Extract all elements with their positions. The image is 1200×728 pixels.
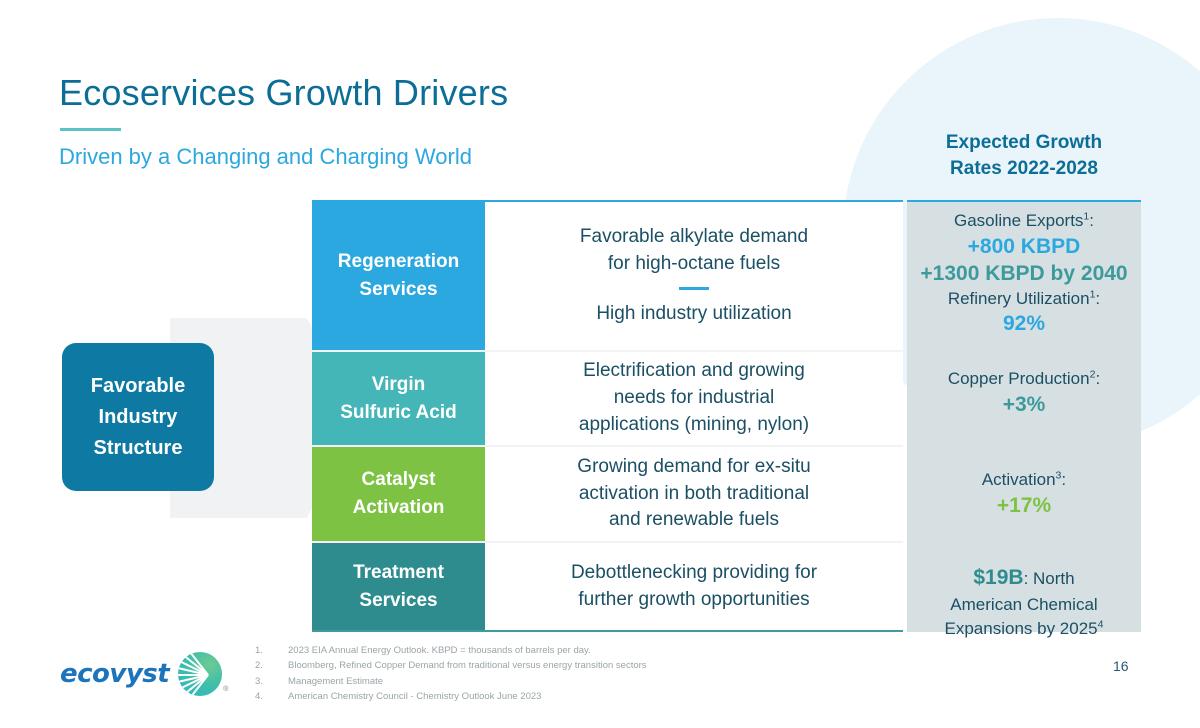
footnote-text: American Chemistry Council - Chemistry O…	[288, 689, 541, 704]
footnote-number: 3.	[255, 674, 288, 689]
stat-label-gasoline-exports: Gasoline Exports1:	[907, 210, 1141, 233]
callout-text: Favorable Industry Structure	[91, 371, 185, 464]
footnote-number: 1.	[255, 643, 288, 658]
callout-line-3: Structure	[91, 433, 185, 464]
page-title: Ecoservices Growth Drivers	[59, 72, 508, 114]
expected-growth-header: Expected Growth Rates 2022-2028	[907, 130, 1141, 181]
growth-drivers-matrix: Regeneration Services Favorable alkylate…	[312, 200, 903, 632]
list-item: 3. Management Estimate	[255, 674, 647, 689]
stat-refinery-utilization: Refinery Utilization1: 92%	[907, 288, 1141, 338]
callout-line-2: Industry	[91, 402, 185, 433]
stat-value-activation: +17%	[907, 492, 1141, 519]
stat-label-text: Gasoline Exports	[954, 211, 1083, 230]
page-subtitle: Driven by a Changing and Charging World	[59, 144, 472, 170]
slide-canvas: Ecoservices Growth Drivers Driven by a C…	[0, 0, 1200, 728]
table-row: Virgin Sulfuric Acid Electrification and…	[312, 350, 903, 445]
stat-value-gasoline-exports-2040: +1300 KBPD by 2040	[907, 260, 1141, 287]
stat-value-refinery-utilization: 92%	[907, 310, 1141, 337]
category-line-2: Services	[338, 276, 459, 304]
description-line-2: further growth opportunities	[578, 588, 809, 613]
title-underline-rule	[60, 128, 121, 131]
stat-copper-production: Copper Production2: +3%	[907, 368, 1141, 418]
category-line-1: Virgin	[340, 371, 456, 399]
expected-growth-header-line1: Expected Growth	[907, 130, 1141, 156]
list-item: 2. Bloomberg, Refined Copper Demand from…	[255, 658, 647, 673]
callout-line-1: Favorable	[91, 371, 185, 402]
stat-label-text: Activation	[982, 470, 1056, 489]
stat-label-colon: :	[1095, 369, 1100, 388]
stat-label-text: Refinery Utilization	[948, 289, 1090, 308]
stat-value-copper-production: +3%	[907, 391, 1141, 418]
description-line-1: Growing demand for ex-situ	[577, 455, 810, 480]
footnote-ref-4: 4	[1098, 618, 1104, 630]
expected-growth-header-line2: Rates 2022-2028	[907, 156, 1141, 182]
stat-value-gasoline-exports-2028: +800 KBPD	[907, 233, 1141, 260]
footnote-text: 2023 EIA Annual Energy Outlook. KBPD = t…	[288, 643, 591, 658]
stat-label-colon: :	[1061, 470, 1066, 489]
expansion-text-line-3: Expansions by 20254	[907, 617, 1141, 640]
expansion-text-line-1: : North	[1024, 569, 1075, 588]
registered-trademark-symbol: ®	[223, 686, 228, 693]
logo-wordmark: ecovyst	[60, 659, 169, 689]
table-row: Regeneration Services Favorable alkylate…	[312, 202, 903, 350]
stat-label-activation: Activation3:	[907, 469, 1141, 492]
matrix-description-regeneration-services: Favorable alkylate demand for high-octan…	[485, 202, 903, 350]
list-item: 1. 2023 EIA Annual Energy Outlook. KBPD …	[255, 643, 647, 658]
matrix-category-treatment-services: Treatment Services	[312, 543, 485, 630]
stat-value-chemical-expansions: $19B	[973, 566, 1023, 589]
stat-chemical-expansions-text: $19B: North American Chemical Expansions…	[907, 564, 1141, 640]
footnote-text: Management Estimate	[288, 674, 383, 689]
table-row: Catalyst Activation Growing demand for e…	[312, 445, 903, 541]
category-line-2: Activation	[353, 494, 445, 522]
footnote-number: 4.	[255, 689, 288, 704]
expected-growth-rates-panel: Gasoline Exports1: +800 KBPD +1300 KBPD …	[907, 200, 1141, 632]
description-line-2: for high-octane fuels	[608, 252, 780, 277]
stat-label-colon: :	[1089, 211, 1094, 230]
description-line-2: needs for industrial	[614, 386, 775, 411]
footnote-number: 2.	[255, 658, 288, 673]
footnotes-list: 1. 2023 EIA Annual Energy Outlook. KBPD …	[255, 643, 647, 705]
matrix-category-catalyst-activation: Catalyst Activation	[312, 447, 485, 541]
table-row: Treatment Services Debottlenecking provi…	[312, 541, 903, 630]
category-line-1: Regeneration	[338, 248, 459, 276]
description-line-3: applications (mining, nylon)	[579, 413, 809, 438]
description-line-1: Electrification and growing	[583, 359, 805, 384]
stat-gasoline-exports: Gasoline Exports1: +800 KBPD +1300 KBPD …	[907, 210, 1141, 288]
stat-label-colon: :	[1095, 289, 1100, 308]
stat-label-refinery-utilization: Refinery Utilization1:	[907, 288, 1141, 311]
matrix-description-virgin-sulfuric-acid: Electrification and growing needs for in…	[485, 352, 903, 445]
stat-label-text: Copper Production	[948, 369, 1090, 388]
favorable-industry-structure-callout: Favorable Industry Structure	[62, 343, 214, 491]
stat-label-copper-production: Copper Production2:	[907, 368, 1141, 391]
page-number: 16	[1113, 658, 1129, 674]
description-line-1: Debottlenecking providing for	[571, 561, 817, 586]
stat-chemical-expansions: $19B: North American Chemical Expansions…	[907, 564, 1141, 640]
list-item: 4. American Chemistry Council - Chemistr…	[255, 689, 647, 704]
category-line-1: Treatment	[353, 559, 444, 587]
category-line-2: Sulfuric Acid	[340, 399, 456, 427]
description-line-2: activation in both traditional	[579, 482, 809, 507]
description-divider-rule	[679, 287, 709, 290]
stat-activation: Activation3: +17%	[907, 469, 1141, 519]
description-line-1: Favorable alkylate demand	[580, 225, 808, 250]
matrix-description-treatment-services: Debottlenecking providing for further gr…	[485, 543, 903, 630]
category-line-2: Services	[353, 587, 444, 615]
expansion-text-line-3-text: Expansions by 2025	[945, 619, 1098, 638]
ecovyst-logo: ecovyst ®	[60, 652, 228, 696]
matrix-category-regeneration-services: Regeneration Services	[312, 202, 485, 350]
matrix-description-catalyst-activation: Growing demand for ex-situ activation in…	[485, 447, 903, 541]
footnote-text: Bloomberg, Refined Copper Demand from tr…	[288, 658, 647, 673]
description-line-3: High industry utilization	[596, 302, 791, 327]
category-line-1: Catalyst	[353, 466, 445, 494]
description-line-3: and renewable fuels	[609, 508, 779, 533]
ecovyst-logomark-icon	[178, 652, 222, 696]
expansion-text-line-2: American Chemical	[907, 593, 1141, 616]
matrix-category-virgin-sulfuric-acid: Virgin Sulfuric Acid	[312, 352, 485, 445]
